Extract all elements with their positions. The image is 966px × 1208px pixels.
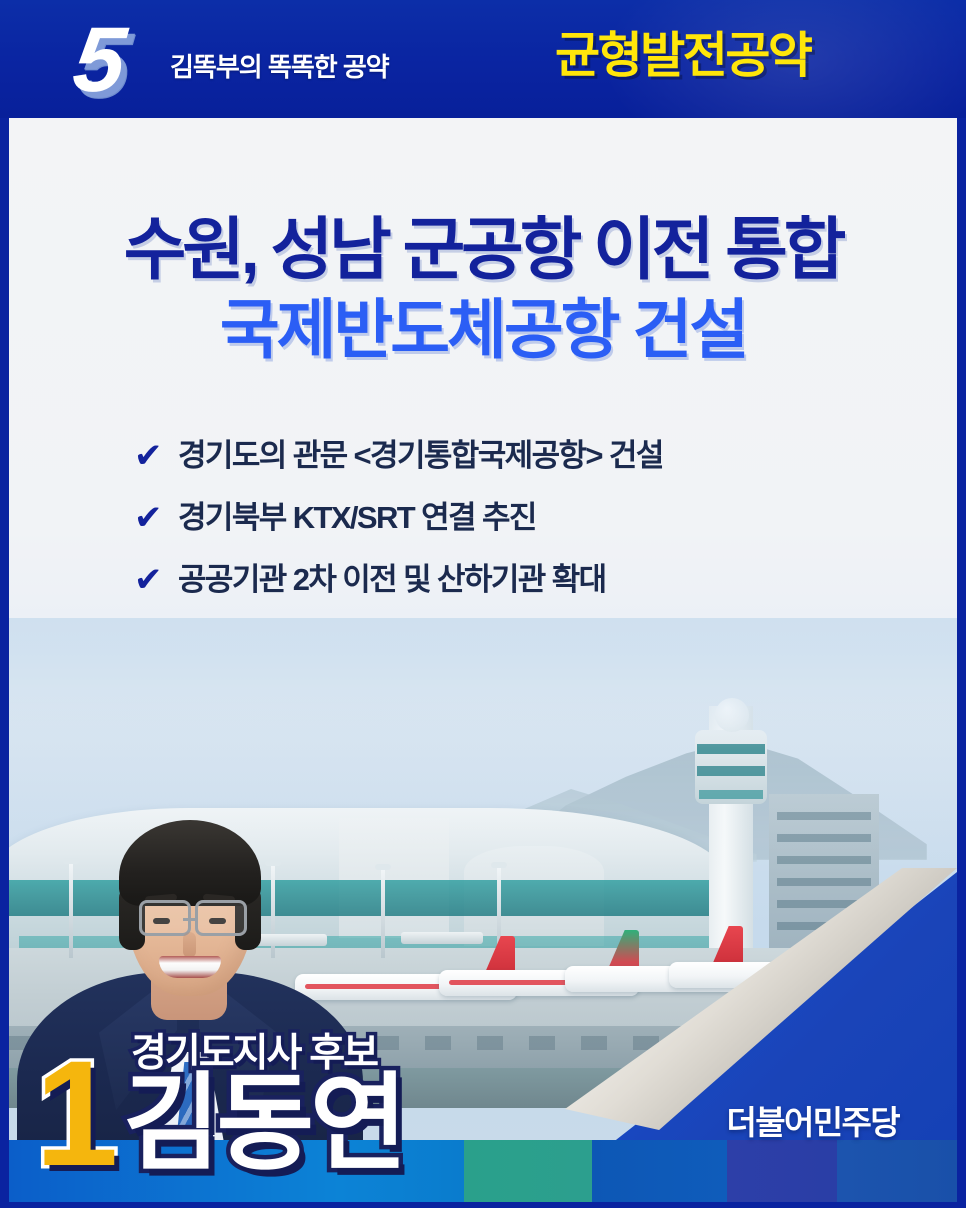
header-category-title: 균형발전공약 (555, 28, 810, 84)
band-4 (592, 1140, 727, 1202)
nose (183, 932, 196, 958)
control-tower-window-2 (697, 766, 765, 776)
poster-header: 5 김똑부의 똑똑한 공약 균형발전공약 (0, 0, 966, 118)
party-name: 더불어민주당 (726, 1104, 899, 1142)
headline-group: 수원, 성남 군공항 이전 통합 국제반도체공항 건설 (9, 210, 957, 368)
candidate-name-block: 1 경기도지사 후보 김동연 (27, 1014, 447, 1194)
band-3 (464, 1140, 592, 1202)
light-pole-lamp (491, 862, 507, 868)
header-subtitle: 김똑부의 똑똑한 공약 (170, 47, 389, 84)
jet-bridge (401, 932, 483, 944)
frame-edge-right (957, 118, 966, 1208)
light-pole-lamp (375, 864, 391, 870)
frame-edge-bottom (0, 1202, 966, 1208)
check-icon: ✔ (134, 501, 178, 535)
candidate-name: 김동연 (123, 1070, 404, 1178)
ballot-number: 1 (35, 1038, 112, 1188)
bullet-text: 공공기관 2차 이전 및 산하기관 확대 (178, 560, 606, 600)
list-item: ✔ 공공기관 2차 이전 및 산하기관 확대 (134, 560, 894, 600)
band-6 (837, 1140, 957, 1202)
check-icon: ✔ (134, 563, 178, 597)
frame-edge-left (0, 118, 9, 1208)
bullet-text: 경기도의 관문 <경기통합국제공항> 건설 (178, 436, 663, 476)
list-item: ✔ 경기도의 관문 <경기통합국제공항> 건설 (134, 436, 894, 476)
campaign-pledge-poster: 5 김똑부의 똑똑한 공약 균형발전공약 수원, 성남 군공항 이전 통합 국제… (0, 0, 966, 1208)
band-5 (727, 1140, 837, 1202)
headline-line-2: 국제반도체공항 건설 (9, 292, 957, 368)
eyeglasses-lens-right (195, 900, 247, 936)
light-pole (381, 868, 385, 958)
smiling-mouth (159, 956, 221, 978)
list-item: ✔ 경기북부 KTX/SRT 연결 추진 (134, 498, 894, 538)
terminal-block-a (339, 818, 449, 938)
pledge-bullet-list: ✔ 경기도의 관문 <경기통합국제공항> 건설 ✔ 경기북부 KTX/SRT 연… (134, 436, 894, 622)
hair (119, 820, 261, 906)
poster-card: 수원, 성남 군공항 이전 통합 국제반도체공항 건설 ✔ 경기도의 관문 <경… (9, 118, 957, 1202)
headline-line-1: 수원, 성남 군공항 이전 통합 (9, 210, 957, 290)
eyeglasses-bridge (183, 918, 197, 921)
radar-dome-icon (715, 698, 749, 732)
control-tower-window-1 (697, 744, 765, 754)
control-tower-window-3 (699, 790, 763, 799)
bullet-text: 경기북부 KTX/SRT 연결 추진 (178, 498, 536, 538)
pledge-number: 5 (69, 14, 128, 106)
check-icon: ✔ (134, 439, 178, 473)
